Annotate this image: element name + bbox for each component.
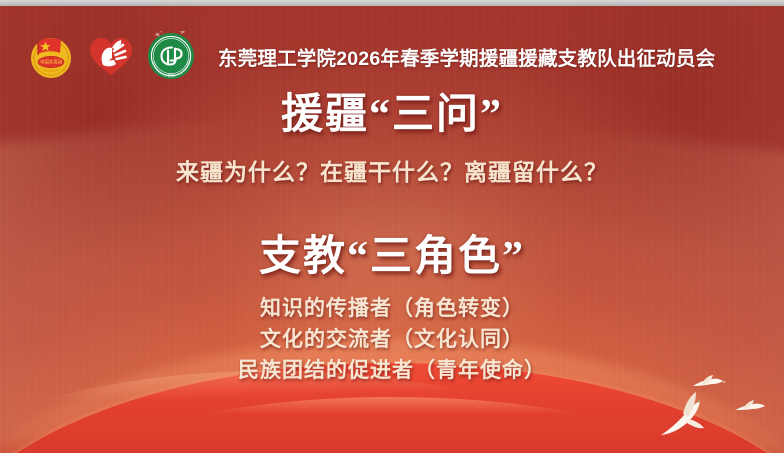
section-two-title: 支教“三角色” (0, 233, 784, 283)
slide-body: 援疆“三问” 来疆为什么？在疆干什么？离疆留什么？ 支教“三角色” 知识的传播者… (0, 91, 784, 386)
header-title: 东莞理工学院2026年春季学期援疆援藏支教队出征动员会 (218, 42, 715, 71)
list-item: 文化的交流者（文化认同） (0, 324, 784, 355)
volunteer-heart-hand-emblem-icon (87, 33, 135, 79)
section-one-title: 援疆“三问” (0, 91, 784, 141)
dove-large-icon (655, 390, 717, 440)
slide-canvas: 中国共青团 (0, 5, 784, 453)
section-two-item-list: 知识的传播者（角色转变） 文化的交流者（文化认同） 民族团结的促进者（青年使命） (0, 293, 784, 386)
list-item: 民族团结的促进者（青年使命） (0, 355, 784, 386)
section-spacer (0, 187, 784, 233)
svg-text:中国共青团: 中国共青团 (40, 59, 63, 66)
communist-youth-league-emblem-icon: 中国共青团 (26, 31, 76, 81)
dongguan-university-of-technology-emblem-icon: 东莞理工学院 DONGGUAN UNIVERSITY OF TECHNOLOGY… (146, 31, 196, 81)
section-one-subtitle: 来疆为什么？在疆干什么？离疆留什么？ (0, 153, 784, 187)
presentation-slide: 中国共青团 (0, 0, 784, 453)
window-chrome-strip (0, 0, 784, 6)
dove-small-right-icon (733, 398, 767, 418)
list-item: 知识的传播者（角色转变） (0, 293, 784, 324)
svg-text:1992: 1992 (168, 73, 175, 77)
slide-header: 中国共青团 (26, 31, 715, 81)
